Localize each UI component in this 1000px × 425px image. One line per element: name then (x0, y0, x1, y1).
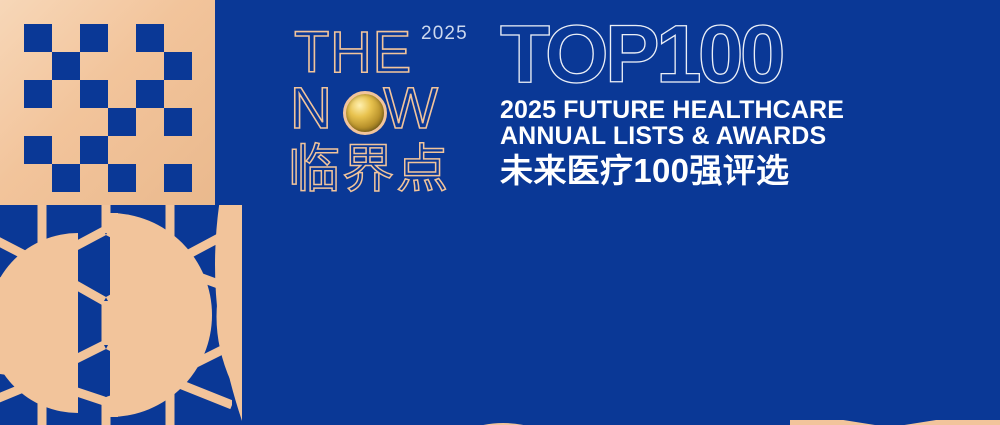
checker-cell (24, 136, 52, 164)
checker-cell (24, 80, 52, 108)
gold-sphere-icon (343, 91, 387, 135)
checker-cell (52, 52, 80, 80)
checker-cell (164, 164, 192, 192)
checker-cell (108, 164, 136, 192)
top100-title: TOP100 (500, 18, 900, 92)
checker-cell (80, 24, 108, 52)
checkerboard-panel (0, 0, 215, 205)
half-disc-shape-center (110, 205, 320, 425)
logo-year-superscript: 2025 (421, 23, 468, 45)
checker-cell (108, 108, 136, 136)
headline-english-line-2: ANNUAL LISTS & AWARDS (500, 124, 900, 150)
checkerboard-grid (24, 24, 192, 192)
logo-now-letter-w: W (383, 76, 438, 141)
checker-cell (24, 24, 52, 52)
checker-cell (136, 24, 164, 52)
checker-cell (164, 108, 192, 136)
decor-band (0, 205, 1000, 425)
headline-chinese-line: 未来医疗100强评选 (500, 152, 900, 190)
checker-cell (80, 136, 108, 164)
headline-block: TOP100 2025 FUTURE HEALTHCARE ANNUAL LIS… (500, 18, 900, 190)
quarter-cut-circle-shape (418, 416, 588, 425)
the-now-logo: THE 2025 NW 临界点 (288, 18, 488, 198)
diagonal-stripe-blocks (790, 410, 1000, 425)
checker-cell (80, 80, 108, 108)
logo-the-text: THE (294, 24, 412, 82)
logo-chinese-name: 临界点 (288, 142, 450, 198)
checker-cell (136, 80, 164, 108)
headline-english-line-1: 2025 FUTURE HEALTHCARE (500, 98, 900, 124)
logo-now-letter-n: N (290, 76, 349, 141)
half-disc-shape-edge (0, 205, 90, 425)
banner-root: THE 2025 NW 临界点 TOP100 2025 FUTURE HEALT… (0, 0, 1000, 425)
checker-cell (164, 52, 192, 80)
checker-cell (52, 164, 80, 192)
